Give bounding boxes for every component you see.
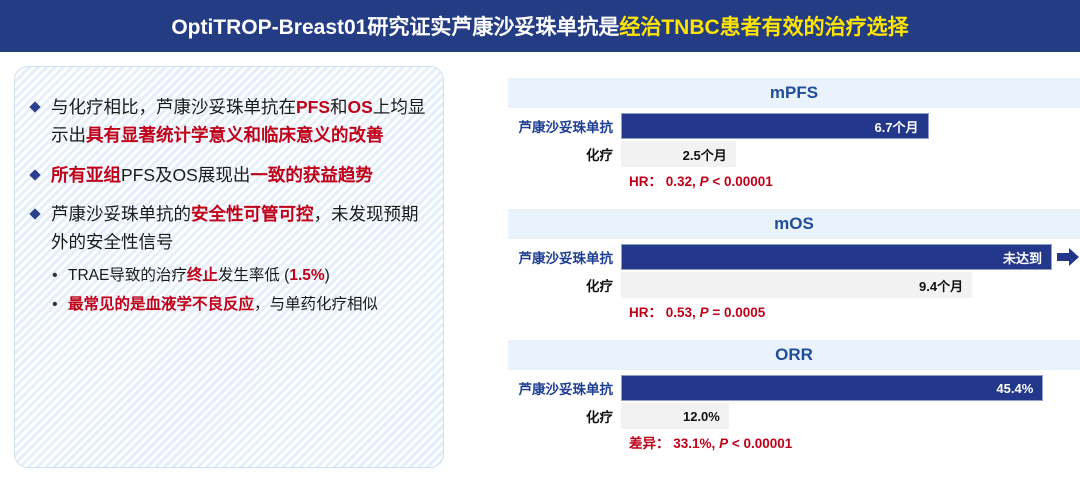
list-item: 最常见的是血液学不良反应，与单药化疗相似 (51, 293, 427, 318)
bar-track: 未达到 (621, 244, 1080, 270)
chart-header-mos: mOS (508, 209, 1080, 239)
table-row: 化疗 2.5个月 (508, 141, 1080, 167)
annotation-value: 0.53 (666, 305, 692, 320)
chart-title: mPFS (770, 83, 818, 103)
bar-treatment: 未达到 (621, 244, 1052, 270)
bar-category-label: 化疗 (508, 144, 621, 164)
bullet-segment-highlight: OS (348, 97, 373, 117)
sub-segment: ，与单药化疗相似 (254, 296, 378, 313)
chart-title: ORR (775, 345, 813, 365)
page-title-yellow-part: 经治TNBC患者有效的治疗选择 (619, 16, 908, 39)
annotation-p-value: < 0.00001 (728, 436, 792, 451)
sub-segment: 发生率低 ( (218, 267, 289, 284)
bullet-segment: 芦康沙妥珠单抗的 (51, 204, 191, 224)
annotation-value: 0.32 (666, 174, 692, 189)
bullet-segment-highlight: 一致的获益趋势 (250, 165, 373, 185)
sub-segment-highlight: 1.5% (289, 267, 324, 284)
bullet-segment-highlight: 安全性可管可控 (191, 204, 314, 224)
slide-title-bar: OptiTROP-Breast01研究证实芦康沙妥珠单抗是经治TNBC患者有效的… (0, 0, 1080, 52)
page-title-white-part: OptiTROP-Breast01研究证实芦康沙妥珠单抗是 (171, 16, 619, 39)
chart-annotation: 差异： 33.1%, P < 0.00001 (508, 432, 1080, 452)
efficacy-charts: mPFS 芦康沙妥珠单抗 6.7个月 化疗 2.5个月 (508, 78, 1080, 471)
annotation-p-value: = 0.0005 (709, 305, 766, 320)
annotation-prefix: 差异： (629, 436, 670, 451)
bullet-segment-highlight: 具有显著统计学意义 (86, 125, 244, 145)
list-item: 所有亚组PFS及OS展现出一致的获益趋势 (29, 161, 427, 189)
annotation-p-label: P (719, 436, 728, 451)
annotation-separator: , (692, 174, 700, 189)
bar-control: 9.4个月 (621, 272, 972, 298)
bar-value-label: 12.0% (683, 409, 720, 424)
annotation-separator: , (712, 436, 720, 451)
chart-rows: 芦康沙妥珠单抗 未达到 化疗 9.4个月 (508, 239, 1080, 321)
bar-control: 2.5个月 (621, 141, 736, 167)
bar-track: 45.4% (621, 375, 1080, 401)
bullet-segment-highlight: 和临床意义的改善 (244, 125, 384, 145)
safety-sub-list: TRAE导致的治疗终止发生率低 (1.5%) 最常见的是血液学不良反应，与单药化… (51, 264, 427, 318)
annotation-prefix: HR： (629, 305, 662, 320)
chart-annotation: HR： 0.32, P < 0.00001 (508, 170, 1080, 190)
bullet-segment: PFS及OS展现出 (121, 165, 250, 185)
chart-annotation: HR： 0.53, P = 0.0005 (508, 301, 1080, 321)
bar-track: 9.4个月 (621, 272, 1080, 298)
sub-segment-highlight: 最常见的是血液学不良反应 (68, 296, 254, 313)
bar-category-label: 芦康沙妥珠单抗 (508, 378, 621, 398)
chart-title: mOS (774, 214, 814, 234)
table-row: 芦康沙妥珠单抗 6.7个月 (508, 113, 1080, 139)
chart-mpfs: mPFS 芦康沙妥珠单抗 6.7个月 化疗 2.5个月 (508, 78, 1080, 190)
page-title: OptiTROP-Breast01研究证实芦康沙妥珠单抗是经治TNBC患者有效的… (171, 11, 908, 41)
sub-segment: TRAE导致的治疗 (68, 267, 187, 284)
annotation-separator: , (692, 305, 700, 320)
annotation-prefix: HR： (629, 174, 662, 189)
bar-track: 6.7个月 (621, 113, 1080, 139)
bar-track: 2.5个月 (621, 141, 1080, 167)
table-row: 化疗 12.0% (508, 403, 1080, 429)
bullet-segment: 与化疗相比，芦康沙妥珠单抗在 (51, 97, 296, 117)
table-row: 芦康沙妥珠单抗 45.4% (508, 375, 1080, 401)
chart-orr: ORR 芦康沙妥珠单抗 45.4% 化疗 12.0% (508, 340, 1080, 452)
conclusions-panel: 与化疗相比，芦康沙妥珠单抗在PFS和OS上均显示出具有显著统计学意义和临床意义的… (14, 66, 444, 468)
bar-value-label: 9.4个月 (919, 276, 963, 295)
sub-segment-highlight: 终止 (187, 267, 218, 284)
chart-rows: 芦康沙妥珠单抗 6.7个月 化疗 2.5个月 HR： 0.32, P < 0.0… (508, 108, 1080, 190)
chart-header-mpfs: mPFS (508, 78, 1080, 108)
bar-value-label: 未达到 (1003, 248, 1042, 267)
bullet-segment-highlight: PFS (296, 97, 330, 117)
bar-treatment: 45.4% (621, 375, 1043, 401)
table-row: 芦康沙妥珠单抗 未达到 (508, 244, 1080, 270)
bullet-segment: 和 (330, 97, 348, 117)
chart-mos: mOS 芦康沙妥珠单抗 未达到 化疗 (508, 209, 1080, 321)
bullet-segment-highlight: 所有亚组 (51, 165, 121, 185)
chart-header-orr: ORR (508, 340, 1080, 370)
bar-track: 12.0% (621, 403, 1080, 429)
conclusion-bullet-list: 与化疗相比，芦康沙妥珠单抗在PFS和OS上均显示出具有显著统计学意义和临床意义的… (29, 93, 427, 317)
bar-value-label: 45.4% (996, 381, 1033, 396)
bar-category-label: 化疗 (508, 406, 621, 426)
not-reached-arrow-icon (1056, 245, 1080, 269)
list-item: TRAE导致的治疗终止发生率低 (1.5%) (51, 264, 427, 289)
bar-category-label: 芦康沙妥珠单抗 (508, 116, 621, 136)
bar-category-label: 芦康沙妥珠单抗 (508, 247, 621, 267)
annotation-p-label: P (700, 305, 709, 320)
table-row: 化疗 9.4个月 (508, 272, 1080, 298)
sub-segment: ) (325, 267, 330, 284)
chart-rows: 芦康沙妥珠单抗 45.4% 化疗 12.0% 差异： 33.1%, P < 0.… (508, 370, 1080, 452)
annotation-value: 33.1% (673, 436, 711, 451)
bar-control: 12.0% (621, 403, 729, 429)
bar-category-label: 化疗 (508, 275, 621, 295)
bar-value-label: 6.7个月 (874, 117, 918, 136)
list-item: 芦康沙妥珠单抗的安全性可管可控，未发现预期外的安全性信号 TRAE导致的治疗终止… (29, 200, 427, 317)
annotation-p-value: < 0.00001 (709, 174, 773, 189)
bar-treatment: 6.7个月 (621, 113, 929, 139)
list-item: 与化疗相比，芦康沙妥珠单抗在PFS和OS上均显示出具有显著统计学意义和临床意义的… (29, 93, 427, 150)
bar-value-label: 2.5个月 (683, 145, 727, 164)
annotation-p-label: P (700, 174, 709, 189)
